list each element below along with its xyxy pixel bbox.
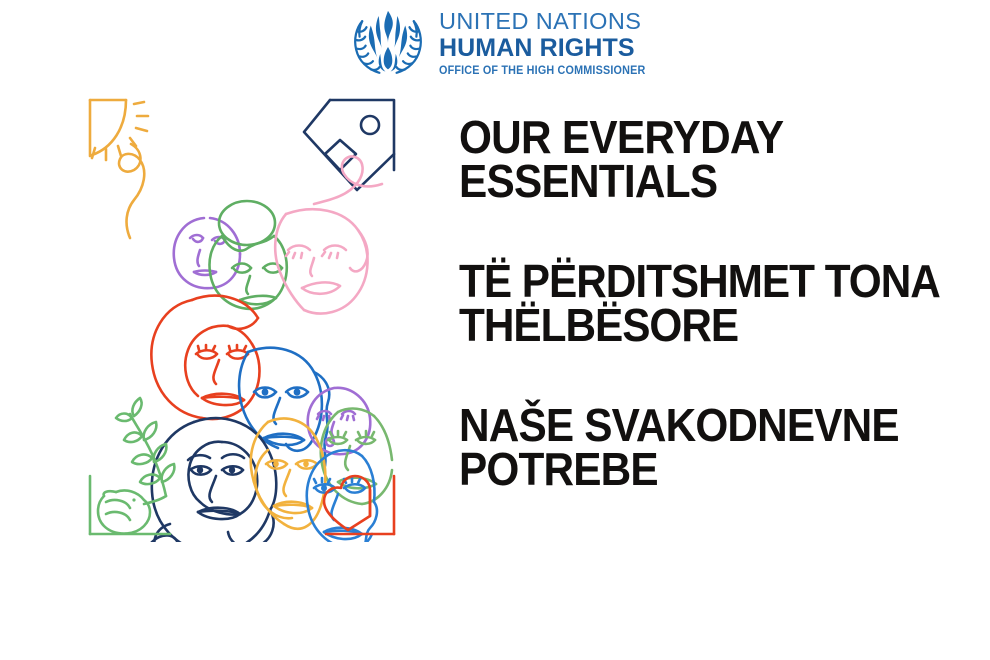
sun-icon (90, 100, 148, 238)
headline-albanian: TË PËRDITSHMET TONA THËLBËSORE (459, 260, 956, 348)
headline-english: OUR EVERYDAY ESSENTIALS (459, 116, 956, 204)
logo-line-office-high-commissioner: OFFICE OF THE HIGH COMMISSIONER (439, 65, 645, 77)
logo-line-human-rights: HUMAN RIGHTS (439, 36, 661, 61)
logo-wordmark: UNITED NATIONS HUMAN RIGHTS OFFICE OF TH… (439, 4, 661, 76)
face-purple (174, 218, 240, 288)
poster-canvas: UNITED NATIONS HUMAN RIGHTS OFFICE OF TH… (0, 0, 990, 660)
headline-bosnian: NAŠE SVAKODNEVNE POTREBE (459, 404, 956, 492)
dove-olive-branch-icon (90, 398, 174, 534)
diverse-faces-illustration (82, 92, 412, 542)
logo-line-united-nations: UNITED NATIONS (439, 10, 661, 34)
price-tag-icon (304, 100, 394, 190)
un-human-rights-logo: UNITED NATIONS HUMAN RIGHTS OFFICE OF TH… (345, 4, 661, 80)
un-human-rights-emblem (345, 4, 431, 80)
headline-group: OUR EVERYDAY ESSENTIALS TË PËRDITSHMET T… (459, 116, 990, 492)
face-pink (275, 209, 367, 313)
face-red (151, 296, 259, 419)
